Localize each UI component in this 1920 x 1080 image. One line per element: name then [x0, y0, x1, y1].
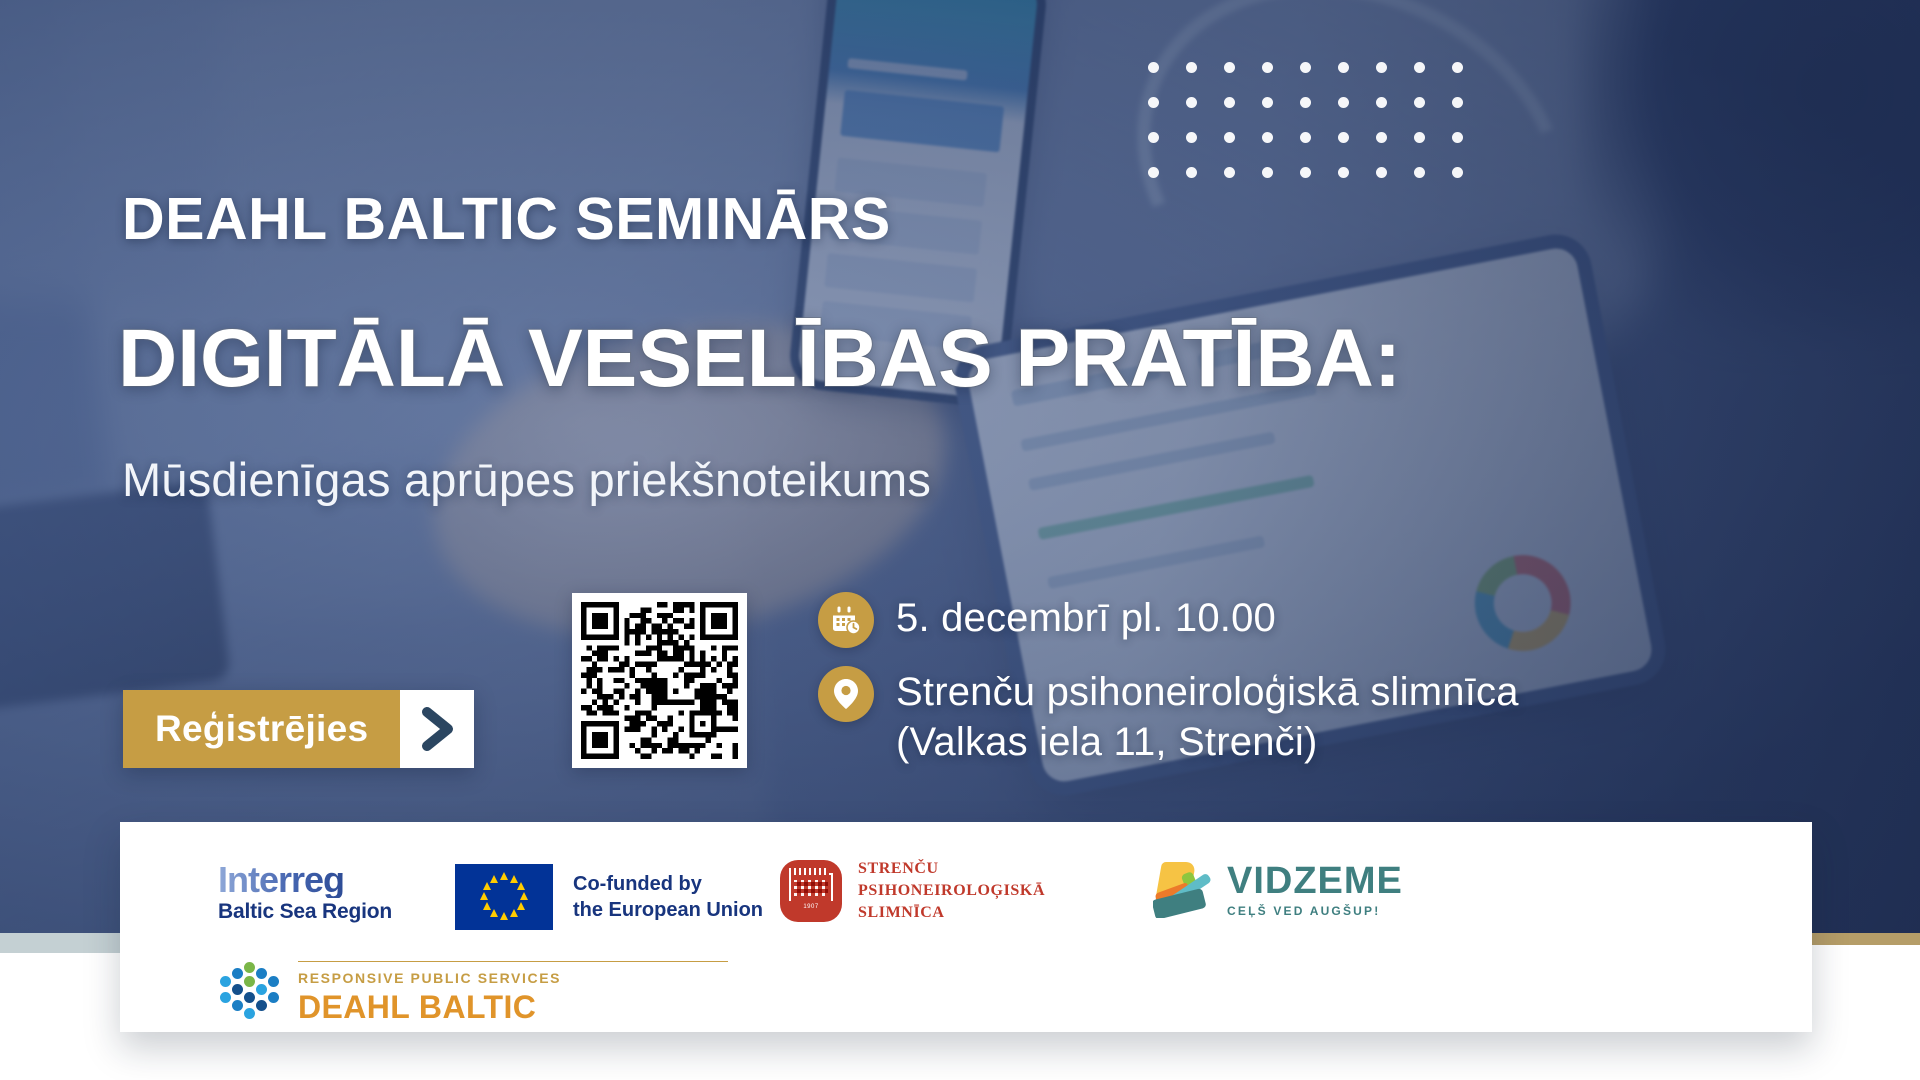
event-location-text: Strenču psihoneiroloģiskā slimnīca (Valk… — [896, 666, 1519, 767]
register-button-label[interactable]: Reģistrējies — [123, 690, 400, 768]
deahl-tagline: RESPONSIVE PUBLIC SERVICES — [298, 971, 561, 985]
hospital-building-glyph — [789, 873, 833, 901]
sponsor-logo-card: Interreg Baltic Sea Region Co-funded by … — [120, 822, 1812, 1032]
calendar-clock-icon — [818, 592, 874, 648]
hospital-logo: 1907 STRENČU PSIHONEIROLOĢISKĀ SLIMNĪCA — [780, 858, 1045, 924]
interreg-wordmark: Interreg — [218, 862, 392, 898]
eu-flag-icon — [455, 864, 553, 930]
event-details: 5. decembrī pl. 10.00 Strenču psihoneiro… — [818, 592, 1698, 785]
eu-logo: Co-funded by the European Union — [455, 864, 763, 930]
deahl-dot-cluster-icon — [218, 962, 280, 1024]
hospital-name-line3: SLIMNĪCA — [858, 902, 1045, 924]
register-button[interactable]: Reģistrējies — [123, 690, 474, 768]
dot-grid-decoration — [1148, 62, 1490, 202]
poster-canvas: DEAHL BALTIC SEMINĀRS DIGITĀLĀ VESELĪBAS… — [0, 0, 1920, 1080]
hospital-name-line2: PSIHONEIROLOĢISKĀ — [858, 880, 1045, 902]
hospital-name: STRENČU PSIHONEIROLOĢISKĀ SLIMNĪCA — [858, 858, 1045, 924]
registration-qr-code[interactable] — [572, 593, 747, 768]
eu-funding-text: Co-funded by the European Union — [573, 871, 763, 923]
deahl-baltic-logo: RESPONSIVE PUBLIC SERVICES DEAHL BALTIC — [218, 962, 561, 1024]
eu-funding-line2: the European Union — [573, 897, 763, 923]
hospital-name-line1: STRENČU — [858, 858, 1045, 880]
vidzeme-text: VIDZEME CEĻŠ VED AUGŠUP! — [1227, 862, 1403, 917]
interreg-logo: Interreg Baltic Sea Region — [218, 862, 392, 922]
page-title: DIGITĀLĀ VESELĪBAS PRATĪBA: — [118, 318, 1401, 400]
hospital-building-icon: 1907 — [780, 860, 842, 922]
interreg-programme: Baltic Sea Region — [218, 901, 392, 922]
page-subtitle: Mūsdienīgas aprūpes priekšnoteikums — [122, 452, 931, 507]
vidzeme-tagline: CEĻŠ VED AUGŠUP! — [1227, 905, 1403, 917]
deahl-divider — [298, 961, 728, 962]
event-location-line2: (Valkas iela 11, Strenči) — [896, 718, 1519, 768]
event-location-row: Strenču psihoneiroloģiskā slimnīca (Valk… — [818, 666, 1698, 767]
eu-funding-line1: Co-funded by — [573, 871, 763, 897]
vidzeme-logo: VIDZEME CEĻŠ VED AUGŠUP! — [1153, 860, 1403, 918]
seminar-kicker: DEAHL BALTIC SEMINĀRS — [122, 185, 891, 253]
event-location-line1: Strenču psihoneiroloģiskā slimnīca — [896, 668, 1519, 718]
vidzeme-wordmark: VIDZEME — [1227, 862, 1403, 900]
deahl-text: RESPONSIVE PUBLIC SERVICES DEAHL BALTIC — [298, 963, 561, 1023]
event-date-row: 5. decembrī pl. 10.00 — [818, 592, 1698, 648]
event-date-text: 5. decembrī pl. 10.00 — [896, 592, 1276, 644]
chevron-right-icon[interactable] — [400, 690, 474, 768]
event-date-line: 5. decembrī pl. 10.00 — [896, 594, 1276, 644]
map-pin-icon — [818, 666, 874, 722]
hospital-year: 1907 — [803, 904, 818, 910]
deahl-wordmark: DEAHL BALTIC — [298, 991, 561, 1023]
vidzeme-swoosh-icon — [1153, 860, 1213, 918]
